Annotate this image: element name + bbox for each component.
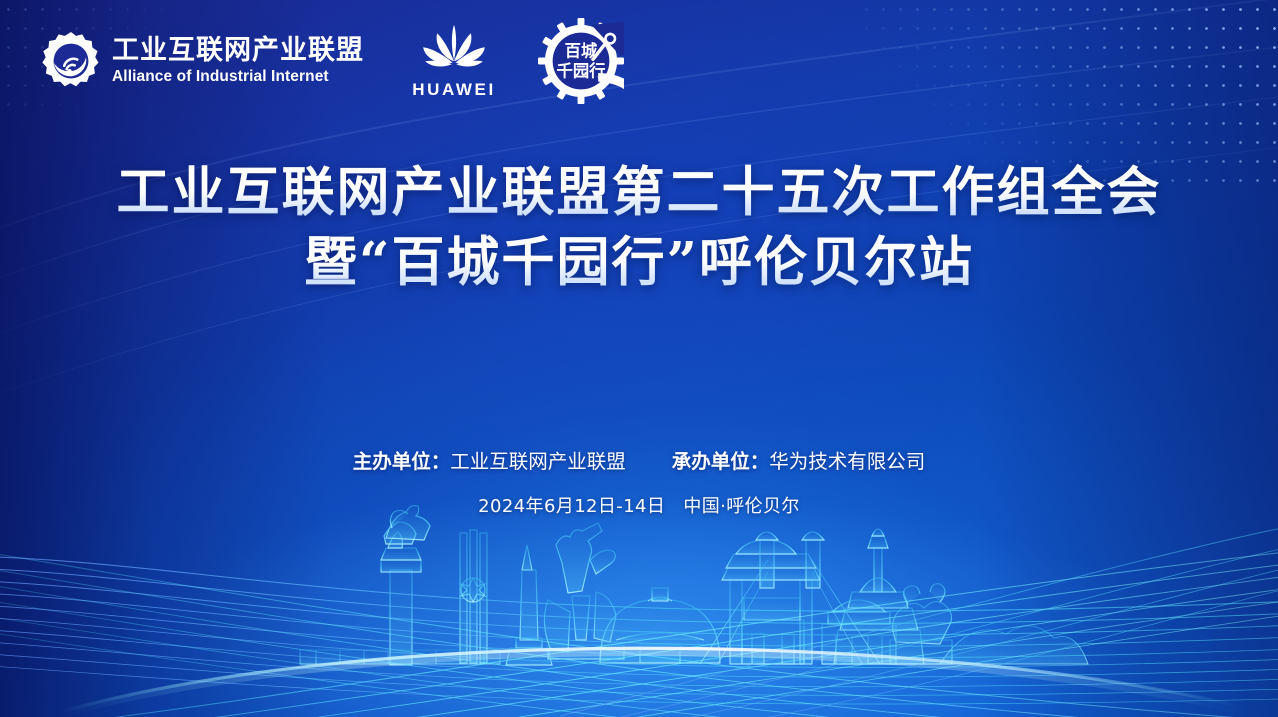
huawei-flower-icon (412, 22, 496, 74)
campaign-text-line2: 千园行 (557, 61, 606, 80)
organizer-info: 主办单位：工业互联网产业联盟承办单位：华为技术有限公司 2024年6月12日-1… (0, 448, 1278, 518)
landmark-mountain-ridge (940, 626, 1088, 664)
host-value: 工业互联网产业联盟 (450, 450, 626, 473)
gear-wifi-icon (40, 30, 102, 92)
date-location-row: 2024年6月12日-14日中国·呼伦贝尔 (0, 492, 1278, 518)
huawei-wordmark: HUAWEI (412, 80, 496, 100)
title-line-1: 工业互联网产业联盟第二十五次工作组全会 (0, 157, 1278, 227)
alliance-en-name: Alliance of Industrial Internet (112, 69, 364, 85)
landmark-spire-tower (506, 545, 552, 665)
landmark-monument-slabs (460, 530, 487, 663)
right-vignette (978, 0, 1278, 717)
landmark-equestrian-column (381, 506, 430, 665)
landmark-bridge-pylons (700, 532, 880, 664)
landmark-bull (890, 584, 952, 664)
city-skyline-silhouette (0, 0, 1278, 717)
host-label: 主办单位： (353, 450, 451, 473)
landmark-white-stupa (834, 529, 924, 664)
landmark-yurt (600, 588, 720, 663)
logo-bar: 工业互联网产业联盟 Alliance of Industrial Interne… (40, 18, 624, 104)
event-location: 中国·呼伦贝尔 (683, 496, 800, 517)
title-line-2: 暨“百城千园行”呼伦贝尔站 (0, 227, 1278, 297)
alliance-logo[interactable]: 工业互联网产业联盟 Alliance of Industrial Interne… (40, 30, 364, 92)
cohost-label: 承办单位： (672, 450, 770, 473)
landmark-temple-hall (822, 600, 896, 664)
campaign-logo[interactable]: 百城 千园行 (538, 18, 624, 104)
landmark-wrestler-statue (544, 523, 624, 659)
organizer-row: 主办单位：工业互联网产业联盟承办单位：华为技术有限公司 (0, 448, 1278, 476)
wave-lines-decoration (0, 0, 1278, 717)
event-date: 2024年6月12日-14日 (478, 496, 665, 517)
left-vignette (0, 0, 330, 717)
conference-banner: 工业互联网产业联盟 Alliance of Industrial Interne… (0, 0, 1278, 717)
main-title: 工业互联网产业联盟第二十五次工作组全会 暨“百城千园行”呼伦贝尔站 (0, 157, 1278, 297)
cohost-value: 华为技术有限公司 (769, 450, 925, 473)
background-streaks (0, 0, 1278, 717)
landmark-wall-row (300, 650, 500, 664)
huawei-logo[interactable]: HUAWEI (408, 22, 500, 100)
alliance-cn-name: 工业互联网产业联盟 (112, 37, 364, 64)
landmark-paifang-gate (722, 540, 820, 664)
campaign-text-line1: 百城 (565, 42, 598, 61)
